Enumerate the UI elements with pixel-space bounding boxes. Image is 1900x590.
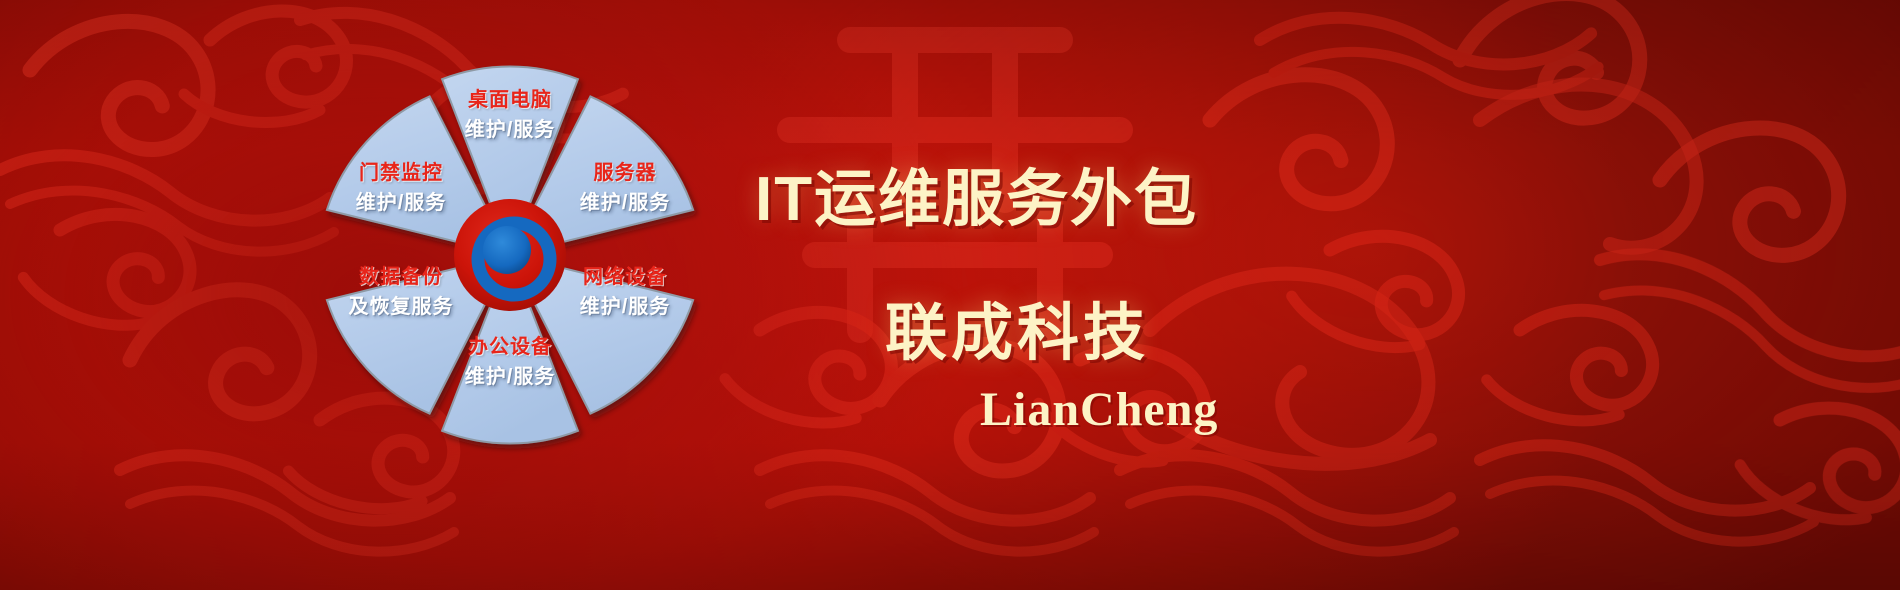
wheel-hub-core — [483, 226, 531, 274]
company-name-latin: LianCheng — [980, 382, 1218, 437]
services-wheel-diagram: 桌面电脑 维护/服务 服务器 维护/服务 网络设备 维护/服务 办公设备 维护/… — [300, 45, 720, 465]
it-services-banner: 桌面电脑 维护/服务 服务器 维护/服务 网络设备 维护/服务 办公设备 维护/… — [0, 0, 1900, 590]
banner-headline: IT运维服务外包 — [755, 148, 1198, 238]
company-name-cn: 联成科技 — [885, 282, 1149, 372]
